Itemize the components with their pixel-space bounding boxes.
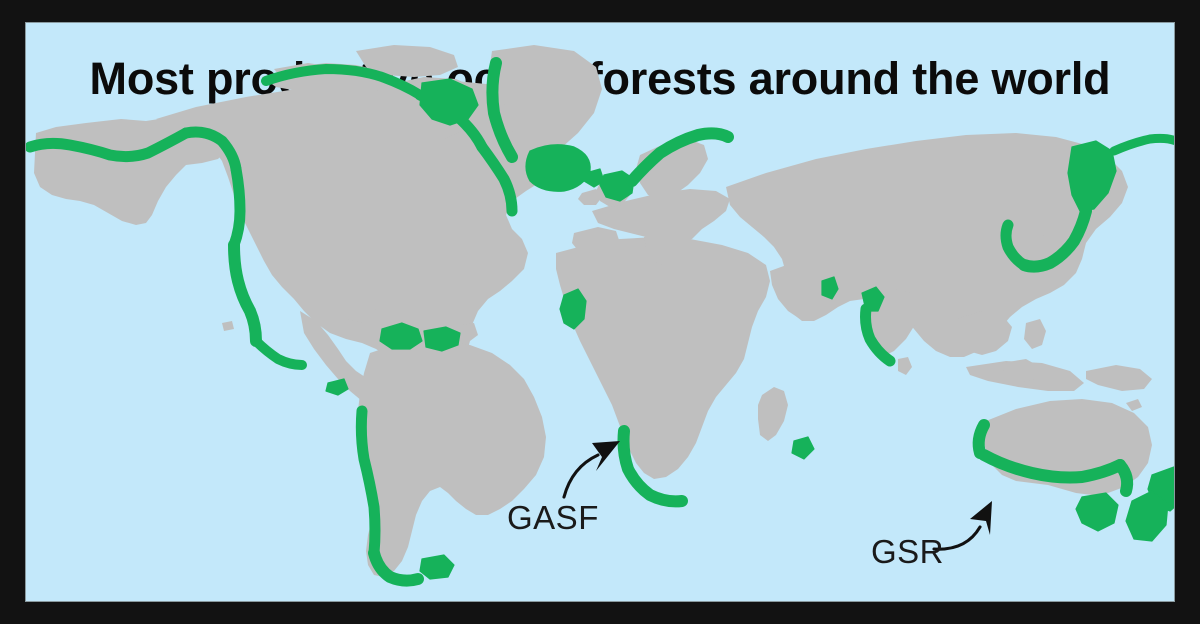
forest-baja xyxy=(256,341,302,365)
landmass-group xyxy=(28,45,1175,577)
forest-california xyxy=(234,245,256,341)
forest-gsr-west-australia xyxy=(979,425,984,453)
gasf-arrow-curve xyxy=(564,455,598,497)
forest-iceland xyxy=(526,145,590,192)
forest-tasmania xyxy=(1076,493,1118,531)
map-panel: Most productive ocean forests around the… xyxy=(25,22,1175,602)
forest-galapagos xyxy=(326,379,348,395)
land-pacific-islets xyxy=(1126,399,1142,411)
land-madagascar xyxy=(758,387,788,441)
land-south-america xyxy=(358,341,546,577)
land-hawaii xyxy=(222,321,234,331)
gsr-label: GSR xyxy=(871,533,944,570)
gasf-label: GASF xyxy=(507,499,599,536)
forest-pacific-nw xyxy=(234,169,240,245)
forest-subantarctic-islands xyxy=(792,437,814,459)
land-north-america xyxy=(156,81,550,379)
land-new-guinea xyxy=(1086,365,1152,391)
land-africa xyxy=(556,237,770,479)
land-sri-lanka xyxy=(898,357,912,375)
forest-falklands xyxy=(420,555,454,579)
forest-new-zealand-south xyxy=(1126,491,1168,541)
land-philippines xyxy=(1024,319,1046,349)
forest-kuril xyxy=(1114,138,1175,151)
figure-root: Most productive ocean forests around the… xyxy=(0,0,1200,624)
annotation-gsr: GSR xyxy=(871,501,992,570)
forest-gsr-southeast xyxy=(1120,465,1127,491)
gsr-arrow-head xyxy=(970,501,992,535)
world-map: GASF GSR xyxy=(26,23,1175,602)
